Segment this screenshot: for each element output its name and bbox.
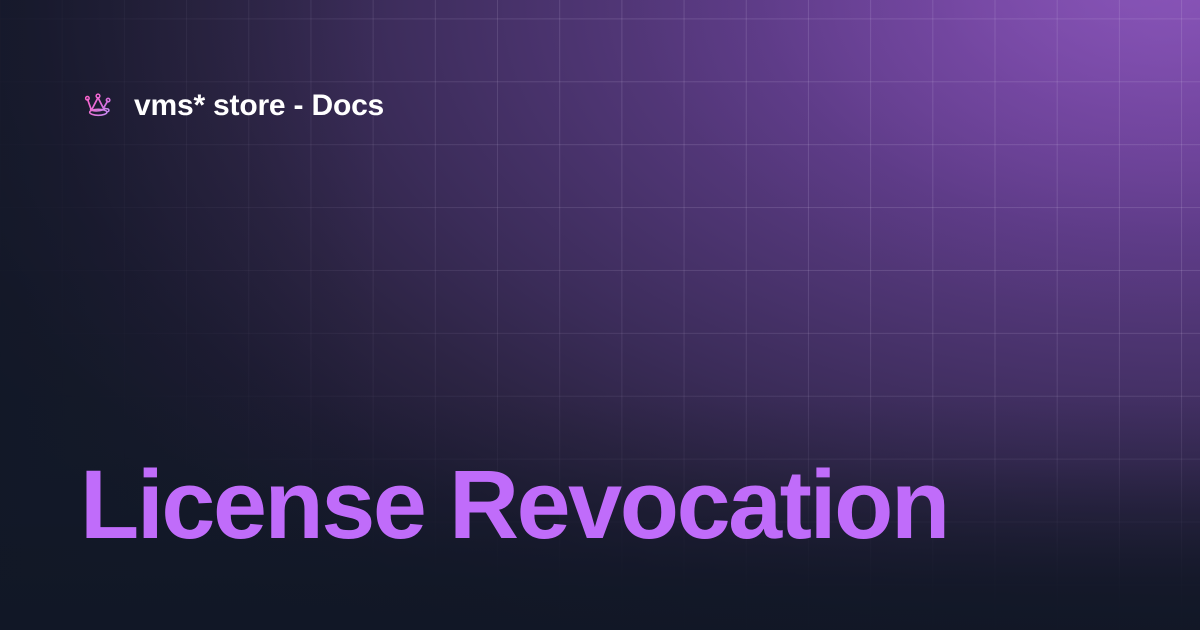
page-title: License Revocation	[80, 455, 1120, 556]
brand-header[interactable]: vms* store - Docs	[80, 83, 384, 129]
brand-title: vms* store - Docs	[134, 91, 384, 121]
og-card: vms* store - Docs License Revocation	[0, 0, 1200, 630]
crown-icon	[80, 88, 116, 124]
card-content: vms* store - Docs License Revocation	[0, 0, 1200, 630]
